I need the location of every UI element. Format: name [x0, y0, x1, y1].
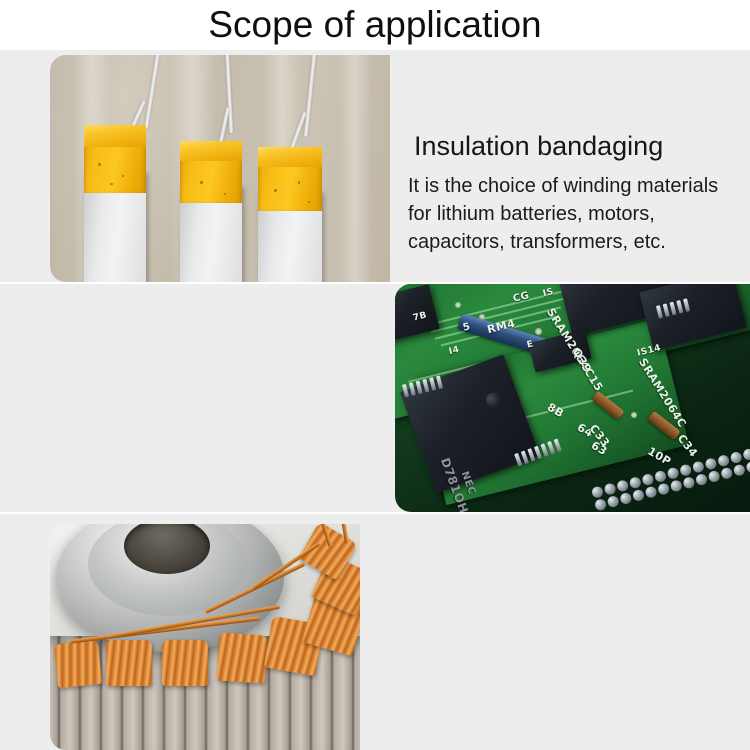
body-line: capacitors, transformers, etc.	[408, 228, 748, 256]
body-line: It is the choice of winding materials	[408, 172, 748, 200]
insulation-bandaging-body: It is the choice of winding materials fo…	[408, 172, 748, 256]
silkscreen-label: C34	[675, 432, 701, 460]
section-spray-paint-protection: Spray paint protection Suitable for shie…	[0, 514, 750, 750]
header-banner: Scope of application	[0, 0, 750, 50]
page-title: Scope of application	[208, 4, 541, 46]
insulation-bandaging-heading: Insulation bandaging	[414, 130, 748, 162]
green-pcb-circuit-board-photo: 7B CG IS I4 SRAM2064C15 RM4 5 E Q39 IS14…	[395, 284, 750, 512]
insulation-bandaging-text: Insulation bandaging It is the choice of…	[408, 130, 748, 256]
battery-cells-with-yellow-kapton-tape-photo	[50, 55, 390, 282]
body-line: for lithium batteries, motors,	[408, 200, 748, 228]
motor-stator-copper-windings-photo	[50, 524, 360, 750]
section-smt-high-temperature-protect: SMT high temperature protect Suitable fo…	[0, 284, 750, 512]
infographic-page: Scope of application	[0, 0, 750, 750]
section-insulation-bandaging: Insulation bandaging It is the choice of…	[0, 50, 750, 282]
